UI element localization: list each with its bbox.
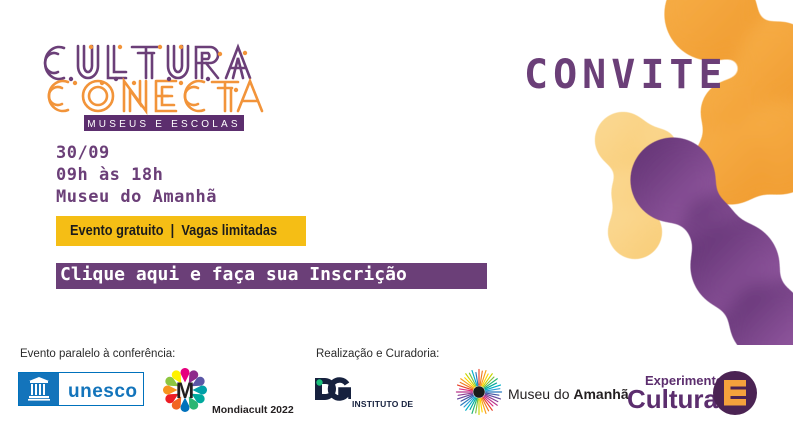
amanha-center-dot [473,386,485,398]
mondiacult-m: M [176,378,194,403]
logo-tagline-text: MUSEUS E ESCOLAS [87,119,240,130]
mondiacult-wordmark: Mondiacult 2022 México [212,378,294,431]
registration-link[interactable]: Clique aqui e faça sua Inscrição [56,263,487,289]
amanha-text-bold: Amanhã [573,386,628,402]
footer-label-parallel-event: Evento paralelo à conferência: [20,348,175,360]
registration-link-text: Clique aqui e faça sua Inscrição [60,264,407,285]
cultura-word: Cultura [627,384,719,414]
idg-logo [313,375,351,403]
status-badge: Evento gratuito | Vagas limitadas [56,216,306,246]
blob-orange [663,0,793,206]
cultura-mark-e [724,380,746,406]
mondiacult-logo: M [160,365,210,415]
cultura-conecta-logo: MUSEUS E ESCOLAS [34,38,264,134]
status-badge-text: Evento gratuito | Vagas limitadas [70,223,277,239]
idg-line1: INSTITUTO DE [352,399,440,410]
experimente-cultura-logo: Experimente Cultura [627,368,757,418]
idg-dot [316,379,322,385]
museu-do-amanha-wordmark: Museu do Amanhã [508,386,629,402]
footer-label-realization: Realização e Curadoria: [316,348,439,360]
invitation-banner: MUSEUS E ESCOLAS CONVITE 30/09 09h às 18… [0,0,793,431]
blob-yellow [593,110,679,261]
event-venue: Museu do Amanhã [56,186,217,208]
mondiacult-line1: Mondiacult 2022 [212,404,294,417]
amanha-text-light: Museu do [508,386,573,402]
unesco-wordmark: unesco [68,381,138,402]
museu-do-amanha-logo [455,368,503,416]
blob-purple [629,136,793,345]
page-title: CONVITE [524,55,728,95]
event-date: 30/09 [56,142,217,164]
event-info: 30/09 09h às 18h Museu do Amanhã [56,142,217,208]
unesco-logo: unesco [18,372,144,406]
idg-wordmark: INSTITUTO DE DESENVOLVIMENTO E GESTÃO [352,378,440,431]
event-time: 09h às 18h [56,164,217,186]
